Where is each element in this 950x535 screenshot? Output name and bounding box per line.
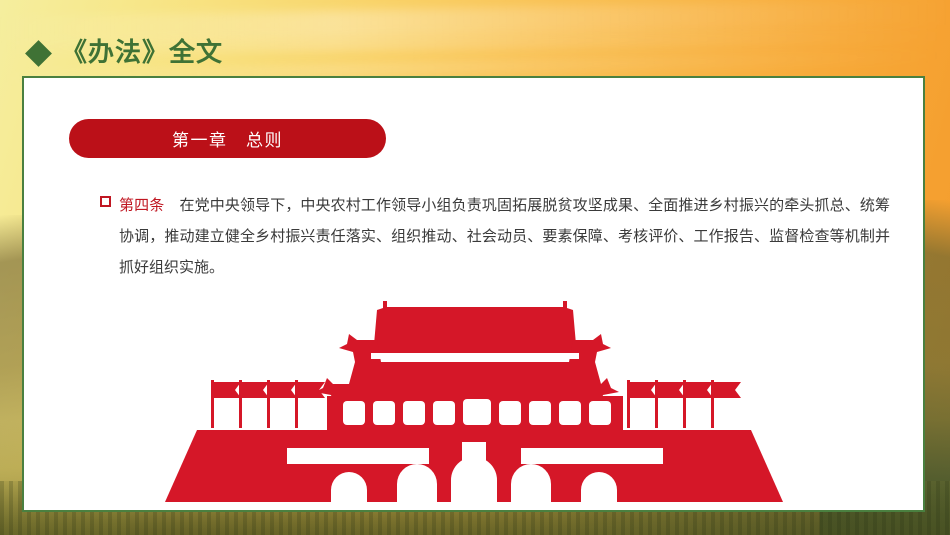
page-title: 《办法》全文 (61, 40, 223, 66)
article-number: 第四条 (119, 196, 164, 214)
gate-windows (343, 399, 611, 425)
page-title-row: 《办法》全文 (29, 40, 223, 66)
gate-upper-roof (373, 301, 577, 356)
article-body: 在党中央领导下，中央农村工作领导小组负责巩固拓展脱贫攻坚成果、全面推进乡村振兴的… (119, 196, 890, 276)
gate-flags-right (627, 380, 741, 428)
content-card: 第一章 总则 第四条 在党中央领导下，中央农村工作领导小组负责巩固拓展脱贫攻坚成… (22, 76, 925, 512)
chapter-label: 第一章 总则 (172, 126, 283, 151)
slide-root: 《办法》全文 第一章 总则 第四条 在党中央领导下，中央农村工作领导小组负责巩固… (0, 0, 950, 535)
gate-flags-left (211, 380, 325, 428)
article-text: 第四条 在党中央领导下，中央农村工作领导小组负责巩固拓展脱贫攻坚成果、全面推进乡… (119, 190, 890, 283)
gate-shapes (165, 301, 783, 506)
tiananmen-gate-svg (149, 294, 799, 506)
chapter-banner: 第一章 总则 (69, 119, 386, 158)
hollow-square-bullet-icon (100, 196, 111, 207)
article-paragraph: 第四条 在党中央领导下，中央农村工作领导小组负责巩固拓展脱贫攻坚成果、全面推进乡… (100, 190, 890, 283)
gate-middle-tier (349, 362, 601, 384)
tiananmen-gate-illustration (24, 294, 923, 506)
gate-roof-stripe (371, 353, 579, 359)
diamond-icon (25, 40, 52, 67)
